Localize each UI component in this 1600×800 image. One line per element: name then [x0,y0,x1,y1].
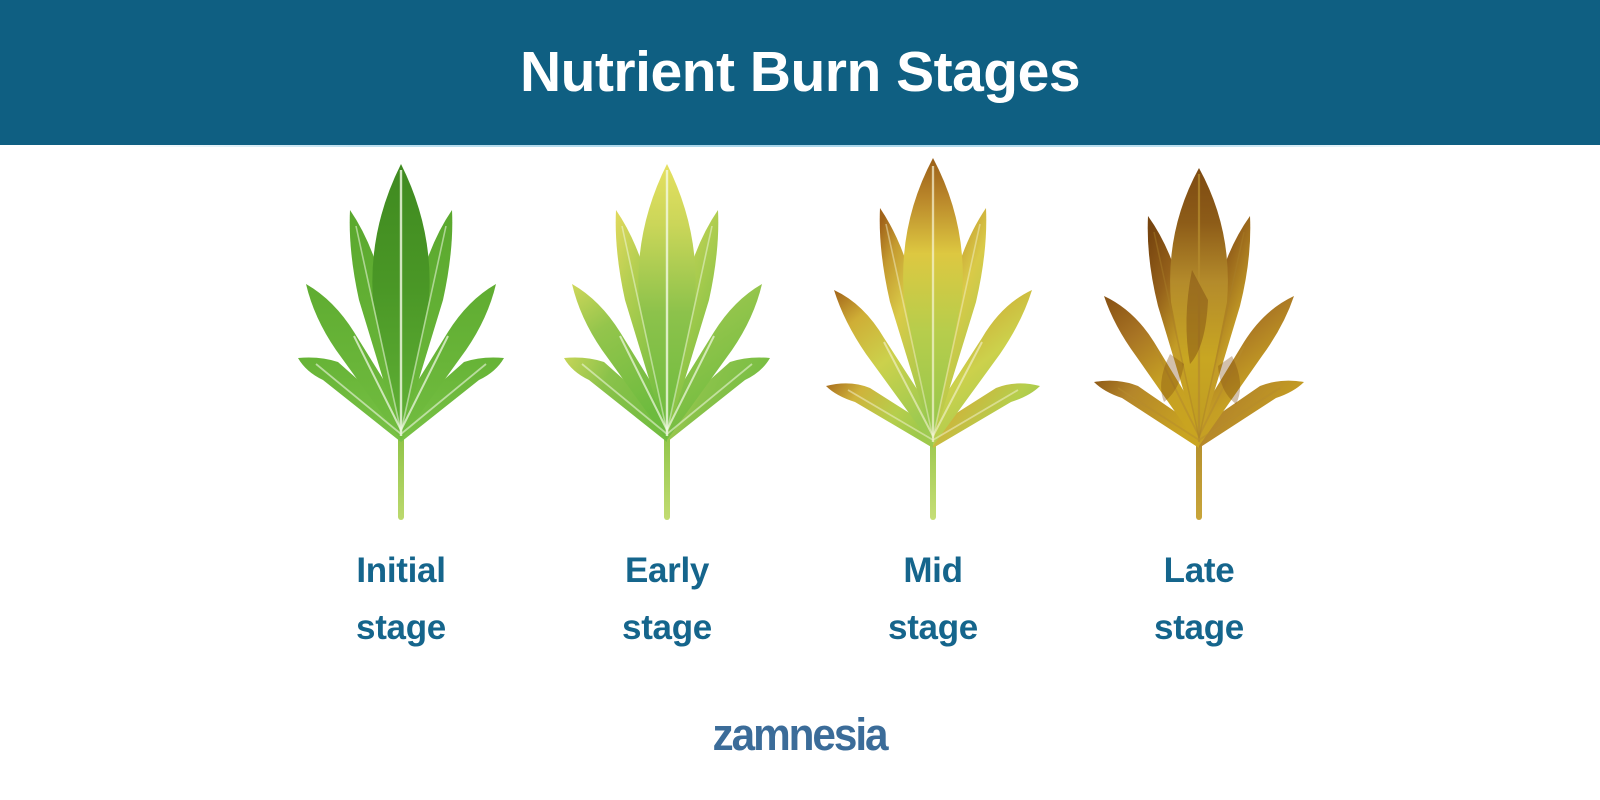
leaf-image-initial [268,150,534,525]
header-band: Nutrient Burn Stages [0,0,1600,145]
cannabis-leaf-icon [808,150,1058,520]
header-divider [110,145,1450,147]
stage-item-initial: Initial stage [268,150,534,680]
stage-label-mid: Mid stage [888,543,978,656]
page-title: Nutrient Burn Stages [520,44,1080,101]
stage-label-initial: Initial stage [356,543,446,656]
footer-logo: zamnesia [0,712,1600,757]
stages-row: Initial stage [0,150,1600,690]
cannabis-leaf-icon [276,150,526,520]
cannabis-leaf-icon [542,150,792,520]
stage-label-early: Early stage [622,543,712,656]
stage-label-late: Late stage [1154,543,1244,656]
stage-item-early: Early stage [534,150,800,680]
stage-item-late: Late stage [1066,150,1332,680]
zamnesia-logo: zamnesia [713,712,887,757]
leaf-image-mid [800,150,1066,525]
leaf-image-early [534,150,800,525]
cannabis-leaf-icon [1074,150,1324,520]
stage-item-mid: Mid stage [800,150,1066,680]
infographic-root: Nutrient Burn Stages [0,0,1600,800]
leaf-image-late [1066,150,1332,525]
